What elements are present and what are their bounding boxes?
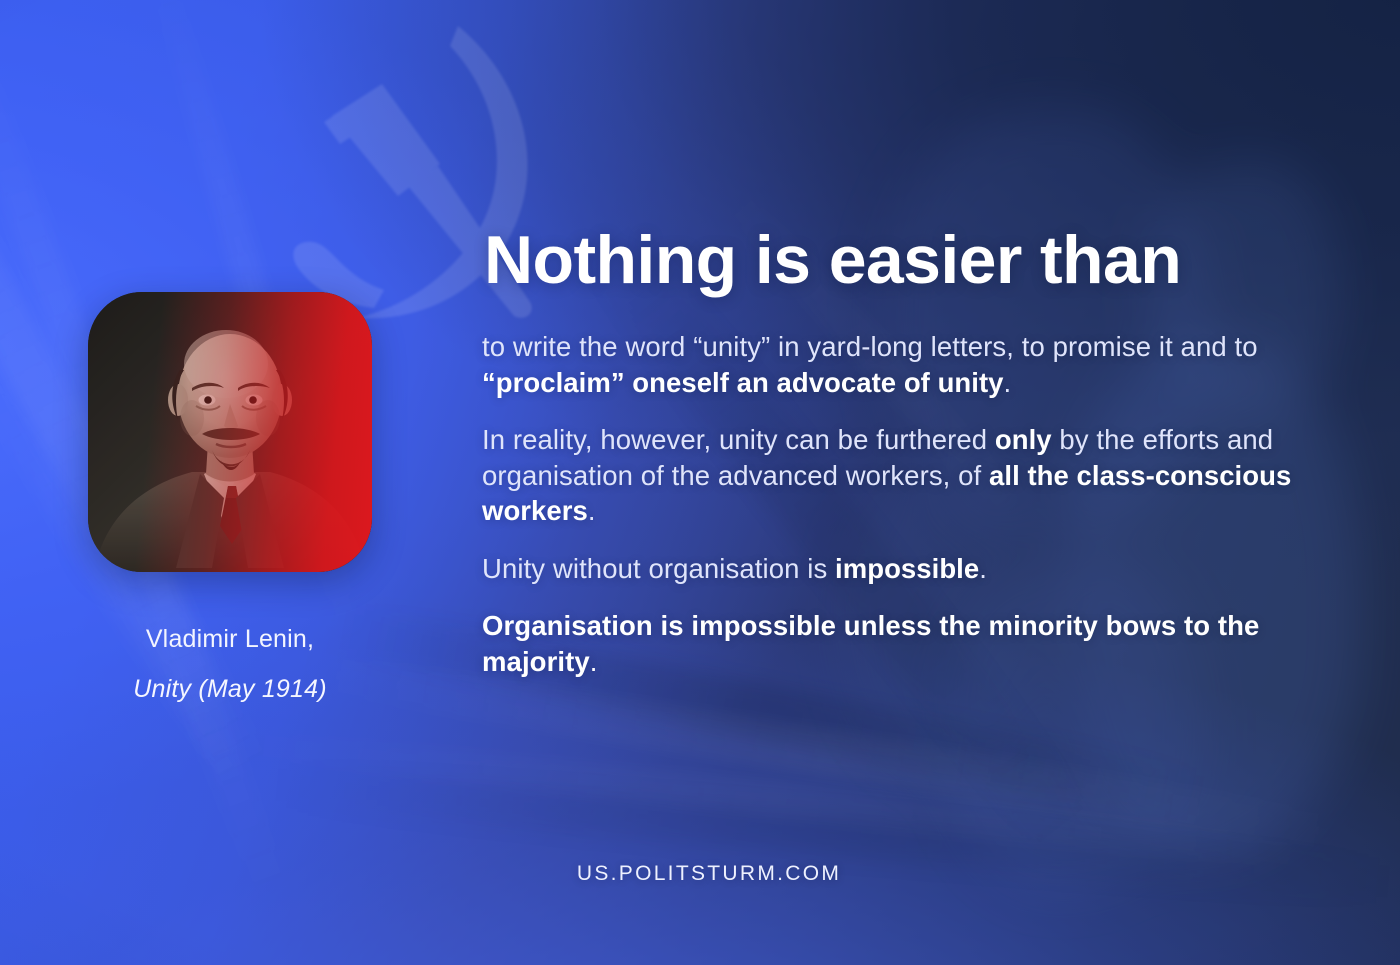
site-url: US.POLITSTURM.COM [0,862,1400,886]
quote-emphasis: Organisation is impossible unless the mi… [482,610,1259,676]
author-source: Unity (May 1914) [0,676,460,704]
quote-paragraph: Unity without organisation is impossible… [482,551,1332,586]
author-name: Vladimir Lenin, [0,626,460,654]
quote-emphasis: “proclaim” oneself an advocate of unity [482,367,1004,398]
site-url-text: US.POLITSTURM.COM [559,862,841,886]
quote-text: . [590,646,598,677]
quote-emphasis: only [995,424,1052,455]
quote-block: Nothing is easier than to write the word… [482,226,1332,679]
avatar [88,292,372,572]
quote-text: . [1004,367,1012,398]
quote-paragraph: In reality, however, unity can be furthe… [482,422,1332,528]
quote-text: Unity without organisation is [482,553,835,584]
quote-emphasis: impossible [835,553,979,584]
author-block: Vladimir Lenin, Unity (May 1914) [0,292,460,703]
quote-paragraphs: to write the word “unity” in yard-long l… [482,329,1332,679]
quote-text: . [979,553,987,584]
quote-text: . [588,495,596,526]
attribution: Vladimir Lenin, Unity (May 1914) [0,626,460,703]
page-title: Nothing is easier than [484,226,1332,295]
quote-card: Vladimir Lenin, Unity (May 1914) Nothing… [0,0,1400,965]
red-gradient-overlay [88,292,372,572]
quote-text: to write the word “unity” in yard-long l… [482,331,1258,362]
quote-paragraph: to write the word “unity” in yard-long l… [482,329,1332,400]
quote-paragraph: Organisation is impossible unless the mi… [482,608,1332,679]
quote-text: In reality, however, unity can be furthe… [482,424,995,455]
